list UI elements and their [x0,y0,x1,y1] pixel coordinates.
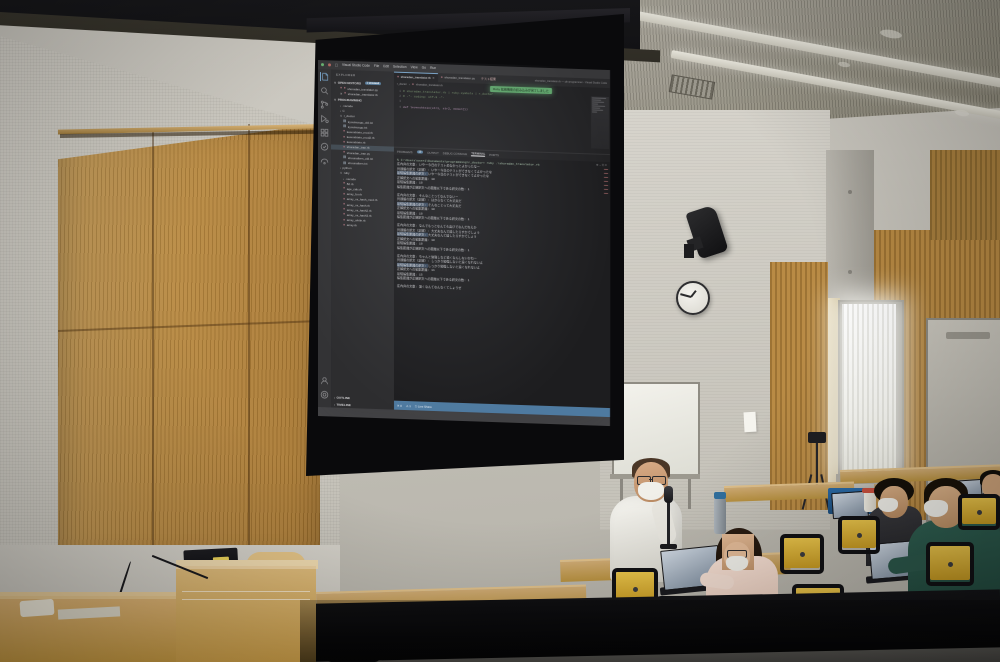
vscode-activity-bar[interactable] [318,69,331,407]
vscode-sidebar[interactable]: EXPLORER ∨ OPEN EDITORS 1 unsaved ● ● sh… [331,69,394,409]
ruby-file-icon: ● [344,92,346,95]
text-file-icon: ▤ [343,156,346,159]
chevron-right-icon: › [340,104,341,108]
bottle-cap [714,492,726,499]
code-editor[interactable]: 1 # shoradan_translator.rb | ruby-symbol… [394,87,610,154]
ruby-file-icon: ● [343,187,345,190]
activity-bar-bottom[interactable] [320,376,329,407]
text-file-icon: ▤ [343,125,346,128]
ruby-file-icon: ● [344,87,346,90]
ruby-file-icon: ● [343,224,345,227]
wall-note [743,412,756,433]
breadcrumb-folder[interactable]: r_doctor [397,82,407,85]
file-tree-label: array_vs_hash3.rb [347,213,372,218]
water-bottle [714,498,726,534]
file-tree-label: array_vs_hash.rb [347,203,370,208]
laptop [831,491,867,517]
file-tree-label: array_vs_hash2.rb [347,208,372,213]
status-live-share[interactable]: ⎋ Live Share [415,404,432,409]
file-tree-label: shounaiben_old.txt [348,156,373,161]
window-close-icon[interactable] [321,63,324,66]
ruby-file-icon: ● [343,198,345,201]
panel-tab-terminal[interactable]: TERMINAL [471,151,485,156]
face-mask [726,556,748,571]
ruby-file-icon: ● [343,130,345,133]
whiteboard-leg [688,479,691,509]
explorer-icon[interactable] [320,72,330,81]
speaker-bracket [684,244,694,258]
text-file-icon: ▤ [343,120,346,123]
chevron-right-icon: › [343,176,344,180]
file-tree-label: shoradan_tran.py [347,151,370,156]
problems-badge: 10 [417,150,424,153]
sidebar-bottom-sections[interactable]: › OUTLINE › TIMELINE [331,393,394,409]
panel-seam [152,128,154,564]
wall-clock [676,281,710,315]
file-tree-label: array.rb [347,223,357,227]
chevron-right-icon: › [334,402,335,406]
file-tree-label: levenshtein_mod.rb [347,130,373,135]
wood-slat-wall [930,150,1000,240]
lecture-hall-scene:  Visual Studio Code File Edit Selection… [0,0,1000,662]
face-mask [878,498,898,512]
line-number: 4 [396,104,401,109]
chevron-down-icon: ∨ [334,97,336,101]
modified-dot-icon: ● [340,87,342,90]
editor-minimap[interactable] [591,96,609,149]
lecture-seat [842,520,876,548]
terminal-output: % C:\Users\user1\Documents\programming\r… [397,157,607,295]
ruby-file-icon: ● [343,213,345,216]
panel-tab-debug-console[interactable]: DEBUG CONSOLE [443,151,467,156]
window-blinds [842,304,896,472]
microphone-icon [664,486,673,503]
ruby-file-icon: ● [412,83,414,86]
ruby-file-icon: ● [343,208,345,211]
chevron-down-icon: ∨ [334,80,336,84]
panel-tab-ports[interactable]: PORTS [489,152,499,156]
file-tree-label: ruby [344,171,350,175]
file-tree-label: array_for.rb [347,192,362,197]
extensions-icon[interactable] [320,128,329,137]
file-tree-label: 82.rb [347,182,354,186]
wood-slat-wall [770,262,828,510]
lecture-seat [784,538,820,568]
file-tree-label: age_calc.rb [347,187,363,192]
section-label: TIMELINE [337,402,351,406]
status-errors[interactable]: ✕ 0 [397,403,402,407]
panel-tab-problems[interactable]: PROBLEMS [397,149,413,154]
window-minimize-icon[interactable] [328,63,331,66]
ruby-file-icon: ● [343,151,345,154]
section-label: OUTLINE [337,395,351,399]
vscode-main-area: ● shoradan_translator.rb ✕ ● shoradan_tr… [394,72,610,417]
text-file-icon: ▤ [343,161,346,164]
chevron-right-icon: › [340,166,341,170]
menu-edit[interactable]: Edit [383,62,389,71]
menu-file[interactable]: File [374,62,379,71]
ruby-file-icon: ● [343,135,345,138]
section-timeline[interactable]: › TIMELINE [331,400,394,409]
file-tree-label: python [343,166,352,170]
chevron-down-icon: ∨ [340,114,342,118]
door-vent [946,332,990,339]
lecture-seat [930,546,970,580]
file-tree-label: r_doctor [344,114,355,118]
microphone-base [660,544,677,549]
file-tree-label: kyoutsuugo.txt [348,125,367,130]
file-tree-label: array_while.rb [347,218,366,223]
chevron-right-icon: › [409,83,410,86]
apple-menu-icon[interactable]:  [335,63,338,68]
file-tree-label: levenshtein.rb [347,140,366,145]
modified-dot-icon: ● [441,76,443,79]
terminal-actions[interactable]: ⊕ ⌄ ⎘ ✕ [596,164,607,167]
section-label: PROGRAMMING [338,98,362,103]
file-tree-label: kyoutsuugo_old.txt [348,120,373,125]
status-warnings[interactable]: ⚠ 1 [406,404,411,408]
ruby-file-icon: ● [343,203,345,206]
wood-panel-grain [58,124,320,564]
glasses-bridge [649,479,652,480]
settings-gear-icon[interactable] [320,390,329,399]
section-label: OPEN EDITORS [338,80,361,85]
projected-vscode-window[interactable]:  Visual Studio Code File Edit Selection… [318,60,610,426]
run-debug-icon[interactable] [320,114,329,123]
modified-dot-icon: ● [397,75,399,78]
chevron-down-icon: ∨ [340,171,342,175]
search-icon[interactable] [320,86,329,95]
file-tree-label: .vscode [343,104,353,108]
file-tree-label: C [343,109,345,113]
desk-phone[interactable] [19,599,54,617]
ruby-file-icon: ● [343,218,345,221]
lecture-seat [962,498,996,524]
file-tree-item[interactable]: ●array.rb [331,222,394,229]
microphone-stand [667,500,670,546]
chevron-right-icon: › [340,109,341,113]
remote-icon[interactable] [320,156,329,165]
account-icon[interactable] [320,376,329,385]
ruby-file-icon: ● [343,182,345,185]
testing-icon[interactable] [320,142,329,151]
lectern [176,566,316,662]
face-mask [638,482,664,500]
breadcrumb-file[interactable]: shoradan_translator.rb [416,83,443,87]
terminal-scroll-markers [604,169,608,195]
ruby-file-icon: ● [343,146,345,149]
file-tree-label: shounaiben.txt [348,161,368,166]
panel-seam [248,124,250,564]
terminal-panel[interactable]: % C:\Users\user1\Documents\programming\r… [394,155,610,417]
camera [808,432,826,443]
code-text: def levenshtein(str1, str2, memo={}) [403,105,468,112]
file-tree[interactable]: ›.vscode›C∨r_doctor▤kyoutsuugo_old.txt▤k… [331,103,394,230]
file-tree-label: shoradan_tran.rb [347,145,370,150]
ruby-file-icon: ● [343,141,345,144]
file-tree-label: .vscode [346,177,356,181]
panel-tab-output[interactable]: OUTPUT [427,150,439,154]
source-control-icon[interactable] [320,100,329,109]
chevron-right-icon: › [334,395,335,399]
close-icon[interactable]: ✕ [340,92,343,96]
face-mask [924,500,948,517]
unsaved-badge: 1 unsaved [365,82,382,86]
ruby-file-icon: ● [343,193,345,196]
